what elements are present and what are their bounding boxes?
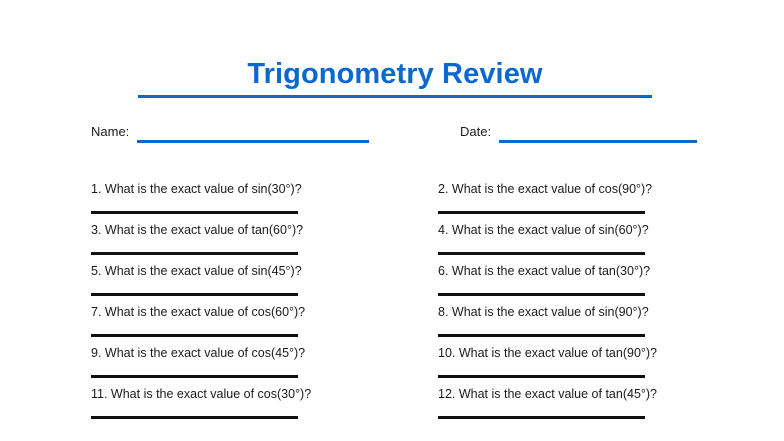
question-item: 7. What is the exact value of cos(60°)? [91, 305, 401, 346]
question-item: 6. What is the exact value of tan(30°)? [438, 264, 748, 305]
questions-column-left: 1. What is the exact value of sin(30°)? … [91, 182, 401, 428]
question-text: 2. What is the exact value of cos(90°)? [438, 182, 748, 197]
date-field-group: Date: [460, 124, 697, 146]
question-text: 5. What is the exact value of sin(45°)? [91, 264, 401, 279]
name-write-in-line[interactable] [137, 140, 369, 143]
date-write-in-line[interactable] [499, 140, 697, 143]
worksheet-page: Trigonometry Review Name: Date: 1. What … [0, 0, 784, 441]
question-text: 8. What is the exact value of sin(90°)? [438, 305, 748, 320]
question-item: 8. What is the exact value of sin(90°)? [438, 305, 748, 346]
question-text: 3. What is the exact value of tan(60°)? [91, 223, 401, 238]
question-item: 10. What is the exact value of tan(90°)? [438, 346, 748, 387]
question-text: 11. What is the exact value of cos(30°)? [91, 387, 401, 402]
question-item: 12. What is the exact value of tan(45°)? [438, 387, 748, 428]
question-text: 10. What is the exact value of tan(90°)? [438, 346, 748, 361]
question-text: 4. What is the exact value of sin(60°)? [438, 223, 748, 238]
title-divider [138, 95, 652, 98]
answer-line[interactable] [438, 293, 645, 296]
question-text: 9. What is the exact value of cos(45°)? [91, 346, 401, 361]
answer-line[interactable] [91, 252, 298, 255]
question-text: 12. What is the exact value of tan(45°)? [438, 387, 748, 402]
question-item: 3. What is the exact value of tan(60°)? [91, 223, 401, 264]
answer-line[interactable] [91, 334, 298, 337]
answer-line[interactable] [438, 334, 645, 337]
question-text: 1. What is the exact value of sin(30°)? [91, 182, 401, 197]
answer-line[interactable] [438, 416, 645, 419]
answer-line[interactable] [438, 252, 645, 255]
question-item: 9. What is the exact value of cos(45°)? [91, 346, 401, 387]
answer-line[interactable] [438, 211, 645, 214]
answer-line[interactable] [91, 375, 298, 378]
questions-column-right: 2. What is the exact value of cos(90°)? … [438, 182, 748, 428]
answer-line[interactable] [91, 211, 298, 214]
answer-line[interactable] [438, 375, 645, 378]
student-info-row: Name: Date: [0, 124, 784, 146]
page-title: Trigonometry Review [138, 57, 652, 91]
question-item: 4. What is the exact value of sin(60°)? [438, 223, 748, 264]
answer-line[interactable] [91, 293, 298, 296]
question-text: 6. What is the exact value of tan(30°)? [438, 264, 748, 279]
date-field-label: Date: [460, 124, 491, 139]
name-field-group: Name: [91, 124, 369, 146]
question-item: 11. What is the exact value of cos(30°)? [91, 387, 401, 428]
answer-line[interactable] [91, 416, 298, 419]
question-item: 1. What is the exact value of sin(30°)? [91, 182, 401, 223]
question-text: 7. What is the exact value of cos(60°)? [91, 305, 401, 320]
name-field-label: Name: [91, 124, 129, 139]
question-item: 2. What is the exact value of cos(90°)? [438, 182, 748, 223]
worksheet-header: Trigonometry Review [138, 57, 652, 98]
question-item: 5. What is the exact value of sin(45°)? [91, 264, 401, 305]
